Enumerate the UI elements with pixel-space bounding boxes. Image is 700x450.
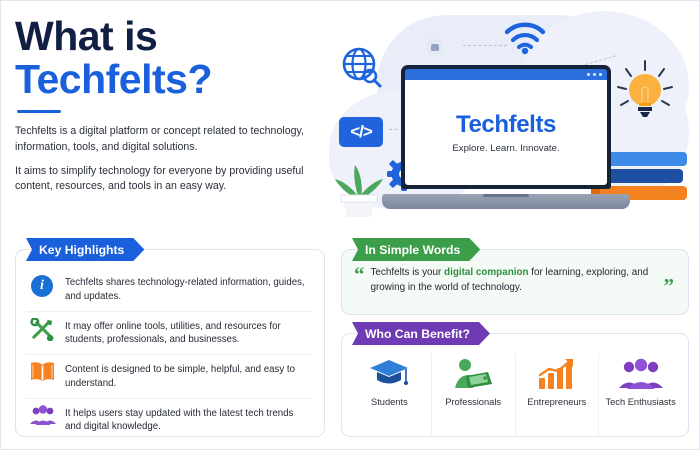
quote-highlight: digital companion — [444, 267, 529, 278]
list-item-label: Entrepreneurs — [527, 397, 586, 407]
list-item-text: It may offer online tools, utilities, an… — [65, 318, 310, 348]
list-item: Entrepreneurs — [516, 353, 600, 436]
who-can-benefit-heading: Who Can Benefit? — [352, 322, 490, 345]
quote-text: Techfelts is your digital companion for … — [371, 266, 658, 296]
list-item: It helps users stay updated with the lat… — [26, 399, 312, 442]
info-icon: i — [30, 274, 55, 299]
key-highlights-heading: Key Highlights — [26, 238, 144, 261]
info-icon-glyph: i — [31, 275, 53, 297]
laptop-screen: Techfelts Explore. Learn. Innovate. — [405, 80, 607, 185]
title-underline — [17, 110, 61, 113]
plant-icon — [331, 157, 387, 224]
in-simple-words-heading: In Simple Words — [352, 238, 480, 261]
window-dot — [599, 73, 602, 76]
wifi-icon — [503, 21, 547, 60]
list-item: It may offer online tools, utilities, an… — [26, 312, 312, 356]
list-item-text: Techfelts shares technology-related info… — [65, 274, 310, 304]
window-dot — [593, 73, 596, 76]
in-simple-words-panel: In Simple Words “ Techfelts is your digi… — [341, 249, 689, 315]
tools-icon — [30, 318, 55, 343]
intro-paragraph-1: Techfelts is a digital platform or conce… — [15, 124, 315, 155]
key-highlights-panel: Key Highlights i Techfelts shares techno… — [15, 249, 325, 437]
quote-text-part1: Techfelts is your — [371, 267, 445, 278]
list-item-text: It helps users stay updated with the lat… — [65, 405, 310, 435]
quote-close-icon: ” — [664, 278, 675, 296]
page-title-line1: What is — [15, 15, 335, 57]
people-group-icon — [619, 357, 663, 391]
infographic-page: What is Techfelts? Techfelts is a digita… — [0, 0, 700, 450]
page-title-line2: Techfelts? — [15, 58, 335, 101]
code-icon: </> — [339, 117, 383, 147]
hero-section: What is Techfelts? Techfelts is a digita… — [15, 15, 335, 203]
who-can-benefit-panel: Who Can Benefit? Students — [341, 333, 689, 437]
list-item-label: Tech Enthusiasts — [605, 397, 675, 407]
dashed-connector — [463, 45, 507, 46]
lightbulb-icon — [615, 59, 675, 136]
laptop-illustration: Techfelts Explore. Learn. Innovate. — [401, 65, 611, 209]
people-icon — [30, 405, 55, 430]
list-item: Content is designed to be simple, helpfu… — [26, 355, 312, 399]
laptop-base — [382, 194, 630, 209]
list-item: Tech Enthusiasts — [599, 353, 682, 436]
quote-open-icon: “ — [354, 266, 365, 283]
list-item: Professionals — [432, 353, 516, 436]
window-dot — [587, 73, 590, 76]
list-item-label: Students — [371, 397, 408, 407]
screen-tagline: Explore. Learn. Innovate. — [452, 143, 559, 154]
list-item-label: Professionals — [445, 397, 501, 407]
graduation-cap-icon — [369, 357, 409, 391]
laptop-lid: Techfelts Explore. Learn. Innovate. — [401, 65, 611, 189]
open-book-icon — [30, 361, 55, 386]
growth-chart-icon — [537, 357, 577, 391]
cloud-icon — [427, 39, 443, 55]
hero-illustration: </> — [323, 9, 695, 235]
list-item: i Techfelts shares technology-related in… — [26, 268, 312, 312]
globe-search-icon — [337, 43, 387, 98]
key-highlights-list: i Techfelts shares technology-related in… — [16, 250, 324, 447]
browser-bar — [405, 69, 607, 80]
list-item-text: Content is designed to be simple, helpfu… — [65, 361, 310, 391]
list-item: Students — [348, 353, 432, 436]
who-can-benefit-grid: Students Professionals — [342, 334, 688, 436]
screen-brand-title: Techfelts — [456, 111, 556, 139]
intro-paragraph-2: It aims to simplify technology for every… — [15, 164, 315, 195]
professional-laptop-icon — [452, 357, 494, 391]
